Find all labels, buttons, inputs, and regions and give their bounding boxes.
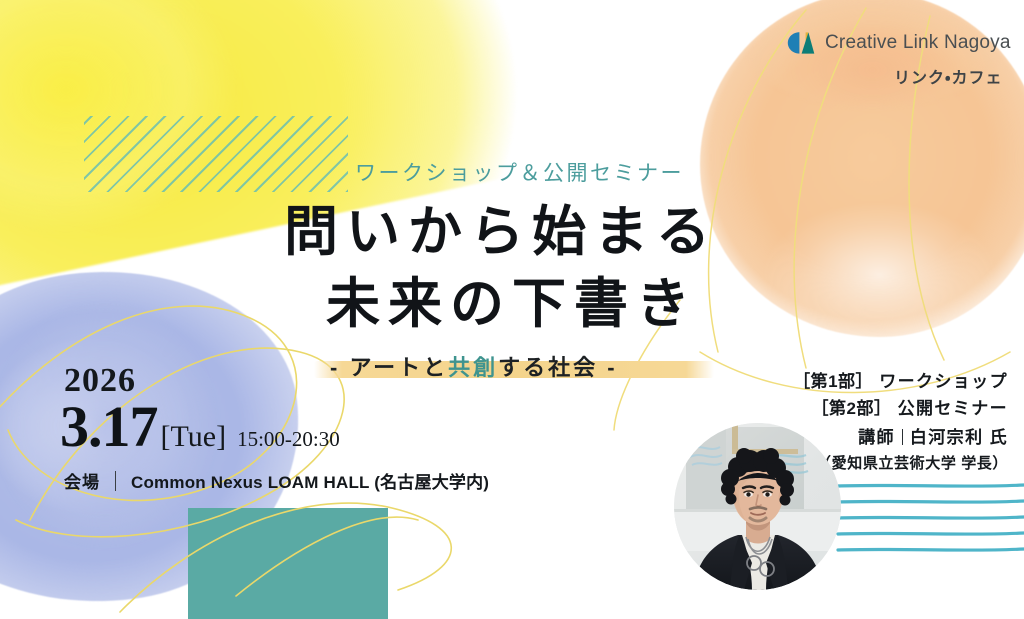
event-poster: Creative Link Nagoya リンク・カフェ ワークショップ＆公開セ… xyxy=(0,0,1024,619)
program-part-1-label: ワークショップ xyxy=(879,372,1008,391)
event-date-row: 3.17 [Tue] 15:00-20:30 xyxy=(60,398,340,456)
eyebrow-text: ワークショップ＆公開セミナー xyxy=(355,157,684,187)
subtitle: - アートと共創する社会 - xyxy=(330,350,618,382)
program-part-2-bracket: ［第2部］ xyxy=(812,399,892,418)
speaker-label: 講師 xyxy=(858,428,895,447)
speaker-divider xyxy=(902,429,903,445)
speaker-row: 講師白河宗利 氏 xyxy=(793,424,1008,451)
brand-name: Creative Link Nagoya xyxy=(825,32,1011,54)
venue-name: Common Nexus LOAM HALL (名古屋大学内) xyxy=(131,468,489,493)
page-title: 問いから始まる 未来の下書き xyxy=(284,196,736,340)
event-time: 15:00-20:30 xyxy=(237,427,340,452)
venue-divider xyxy=(115,471,116,491)
subtitle-text: - アートと共創する社会 - xyxy=(330,350,618,382)
title-line-1: 問いから始まる xyxy=(284,196,736,268)
venue-label: 会場 xyxy=(64,468,100,493)
title-line-2: 未来の下書き xyxy=(284,268,736,340)
program-part-1: ［第1部］ ワークショップ xyxy=(793,368,1008,395)
event-date: 3.17 xyxy=(60,398,158,456)
program-part-2-label: 公開セミナー xyxy=(898,399,1008,418)
program-part-2: ［第2部］ 公開セミナー xyxy=(793,395,1008,422)
brand-lockup: Creative Link Nagoya xyxy=(786,29,1011,57)
program-part-1-bracket: ［第1部］ xyxy=(793,372,873,391)
venue-row: 会場 Common Nexus LOAM HALL (名古屋大学内) xyxy=(64,468,489,493)
event-weekday: [Tue] xyxy=(161,420,227,454)
subtitle-highlight-word: 共創 xyxy=(448,355,498,380)
brand-subtitle: リンク・カフェ xyxy=(894,64,1002,88)
poster-content: Creative Link Nagoya リンク・カフェ ワークショップ＆公開セ… xyxy=(0,0,1024,619)
subtitle-suffix: する社会 - xyxy=(498,355,617,380)
speaker-portrait xyxy=(674,423,841,590)
speaker-name: 白河宗利 氏 xyxy=(910,428,1008,447)
subtitle-prefix: - アートと xyxy=(330,355,448,380)
creative-link-nagoya-logo-icon xyxy=(786,29,816,57)
